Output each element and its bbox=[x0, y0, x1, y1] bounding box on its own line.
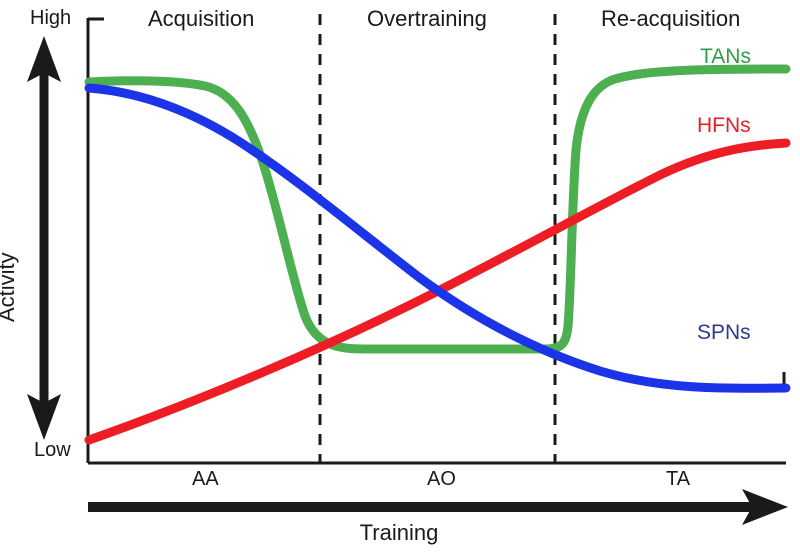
series-line-tans bbox=[89, 69, 786, 349]
x-axis-title: Training bbox=[360, 522, 439, 544]
series-label-hfns: HFNs bbox=[697, 115, 751, 136]
epoch-label-ta: TA bbox=[666, 469, 690, 489]
activity-training-figure: High Low Activity Acquisition Overtraini… bbox=[0, 0, 800, 558]
series-label-spns: SPNs bbox=[697, 322, 751, 343]
y-axis-high-label: High bbox=[30, 8, 71, 28]
activity-axis-arrow bbox=[27, 36, 61, 440]
epoch-label-aa: AA bbox=[192, 469, 219, 489]
y-axis-low-label: Low bbox=[34, 440, 71, 460]
phase-label-re-acquisition: Re-acquisition bbox=[601, 8, 740, 30]
phase-label-acquisition: Acquisition bbox=[148, 8, 254, 30]
series-label-tans: TANs bbox=[700, 46, 751, 67]
epoch-label-ao: AO bbox=[427, 469, 456, 489]
phase-dividers bbox=[320, 14, 555, 463]
phase-label-overtraining: Overtraining bbox=[367, 8, 487, 30]
series-line-spns bbox=[89, 88, 786, 388]
y-axis-title: Activity bbox=[0, 252, 18, 322]
